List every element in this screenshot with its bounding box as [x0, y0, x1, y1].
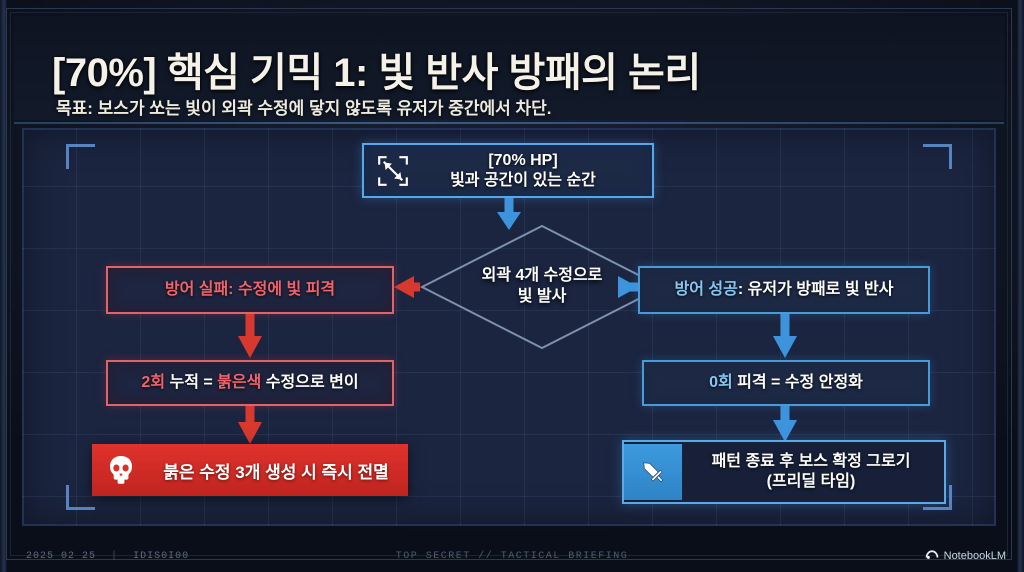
start-line2: 빛과 공간이 있는 순간: [450, 172, 596, 189]
diagram-panel: [70% HP] 빛과 공간이 있는 순간 외곽 4개 수정으로 빛 발사 방어…: [22, 128, 996, 526]
flow-node-decision-label: 외곽 4개 수정으로 빛 발사: [422, 226, 662, 348]
success-step1-label: 방어 성공: 유저가 방패로 빛 반사: [675, 280, 894, 300]
skull-icon: [92, 444, 150, 496]
decision-line2: 빛 발사: [518, 288, 567, 305]
success-step2-label: 0회 피격 = 수정 안정화: [709, 373, 863, 393]
success-step2-count: 0회: [709, 374, 733, 391]
flow-node-start[interactable]: [70% HP] 빛과 공간이 있는 순간: [362, 143, 654, 198]
flow-node-success-step1[interactable]: 방어 성공: 유저가 방패로 빛 반사: [638, 266, 930, 314]
groggy-line2: (프리딜 타임): [767, 473, 856, 490]
page-title: [70%] 핵심 기믹 1: 빛 반사 방패의 논리: [52, 40, 701, 98]
flow-node-fail-step1[interactable]: 방어 실패: 수정에 빛 피격: [106, 266, 394, 314]
header-divider: [14, 122, 1004, 124]
left-edge-bevel: [0, 0, 7, 572]
success-step1-tail: : 유저가 방패로 빛 반사: [738, 281, 894, 298]
wipe-outcome-label: 붉은 수정 3개 생성 시 즉시 전멸: [150, 458, 408, 483]
fail-step2-tail: 수정으로 변이: [261, 374, 358, 391]
right-edge-bevel: [1017, 0, 1024, 572]
fail-step2-color: 붉은색: [217, 374, 261, 391]
success-step2-tail: 피격 = 수정 안정화: [733, 374, 863, 391]
footer-doc-id: IDIS0I00: [133, 551, 189, 562]
decision-line1: 외곽 4개 수정으로: [482, 267, 603, 284]
fail-step2-label: 2회 누적 = 붉은색 수정으로 변이: [141, 373, 358, 393]
fail-step2-count: 2회: [141, 374, 165, 391]
success-step1-head: 방어 성공: [675, 281, 738, 298]
fail-step2-mid: 누적 =: [165, 374, 217, 391]
start-line1: [70% HP]: [488, 152, 557, 169]
sword-icon: [624, 444, 682, 500]
footer-meta: 2025 02 25 | IDIS0I00: [26, 551, 189, 562]
notebooklm-watermark: NotebookLM: [925, 547, 1006, 564]
slide-root: [70%] 핵심 기믹 1: 빛 반사 방패의 논리 목표: 보스가 쏘는 빛이…: [0, 0, 1024, 572]
fail-step1-label: 방어 실패: 수정에 빛 피격: [165, 280, 335, 300]
groggy-line1: 패턴 종료 후 보스 확정 그로기: [712, 453, 911, 470]
flow-node-wipe-outcome[interactable]: 붉은 수정 3개 생성 시 즉시 전멸: [92, 444, 408, 496]
flow-node-decision[interactable]: 외곽 4개 수정으로 빛 발사: [422, 226, 662, 348]
flow-node-start-label: [70% HP] 빛과 공간이 있는 순간: [420, 151, 596, 191]
footer: 2025 02 25 | IDIS0I00 TOP SECRET // TACT…: [0, 538, 1024, 572]
header: [70%] 핵심 기믹 1: 빛 반사 방패의 논리 목표: 보스가 쏘는 빛이…: [14, 16, 1004, 120]
groggy-outcome-label: 패턴 종료 후 보스 확정 그로기 (프리딜 타임): [682, 452, 944, 492]
flow-node-fail-step2[interactable]: 2회 누적 = 붉은색 수정으로 변이: [106, 360, 394, 406]
flow-node-groggy-outcome[interactable]: 패턴 종료 후 보스 확정 그로기 (프리딜 타임): [622, 440, 946, 504]
page-subtitle: 목표: 보스가 쏘는 빛이 외곽 수정에 닿지 않도록 유저가 중간에서 차단.: [56, 94, 552, 119]
footer-classification: TOP SECRET // TACTICAL BRIEFING: [396, 551, 629, 562]
notebooklm-label: NotebookLM: [944, 550, 1006, 562]
footer-separator: |: [111, 551, 118, 562]
footer-date: 2025 02 25: [26, 551, 96, 562]
expand-arrows-icon: [376, 154, 410, 188]
notebooklm-icon: [925, 547, 939, 564]
flow-node-success-step2[interactable]: 0회 피격 = 수정 안정화: [642, 360, 930, 406]
